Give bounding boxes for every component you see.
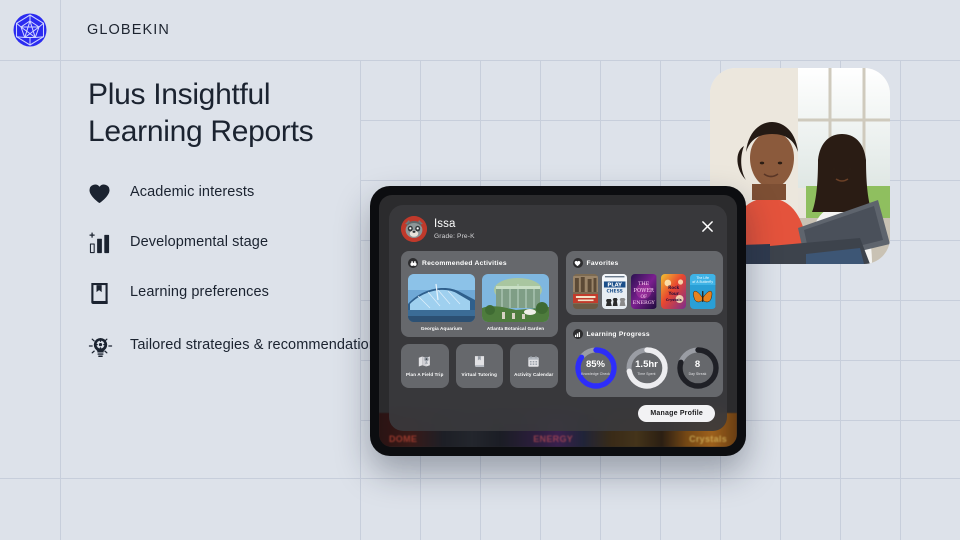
quick-action-label: Activity Calendar	[514, 372, 553, 377]
feature-item-developmental-stage: Developmental stage	[88, 218, 388, 268]
close-icon[interactable]	[699, 218, 715, 234]
svg-text:ENERGY: ENERGY	[633, 300, 656, 306]
ring-text: 85% Knowledge Check	[573, 345, 619, 391]
brand-name: GLOBEKIN	[87, 22, 170, 38]
progress-ring-day-streak: 8 Day Streak	[675, 345, 721, 391]
favorites-card: Favorites	[566, 251, 723, 315]
feature-label: Academic interests	[130, 183, 254, 202]
learning-progress-card: Learning Progress 85%	[566, 322, 723, 397]
svg-text:Rock: Rock	[668, 285, 679, 290]
ring-value: 85%	[586, 360, 605, 370]
svg-text:Crystals: Crystals	[665, 298, 681, 302]
bg-word-2: ENERGY	[533, 434, 573, 444]
favorite-tile[interactable]: The Life of A Butterfly	[690, 274, 715, 309]
favorite-tile[interactable]: Rock Your Crystals	[661, 274, 686, 309]
profile-overlay-panel: Issa Grade: Pre-K	[389, 205, 727, 431]
favorite-tile[interactable]: PLAY CHESS	[602, 274, 627, 309]
svg-text:POWER: POWER	[634, 288, 654, 294]
svg-text:Your: Your	[667, 291, 679, 296]
feature-label: Developmental stage	[130, 233, 268, 252]
svg-text:CHESS: CHESS	[606, 289, 622, 295]
quick-actions-row: Plan A Field Trip Virtual Tutoring	[401, 344, 558, 388]
panel-footer: Manage Profile	[401, 405, 715, 422]
ring-label: Day Streak	[689, 372, 707, 376]
headline-line-2: Learning Reports	[88, 113, 418, 150]
quick-action-virtual-tutoring[interactable]: Virtual Tutoring	[456, 344, 504, 388]
panel-body: Recommended Activities	[401, 251, 715, 397]
feature-item-academic-interests: Academic interests	[88, 168, 388, 218]
bg-word-1: DOME	[389, 434, 417, 444]
activity-thumbnail	[408, 274, 475, 322]
feature-item-learning-preferences: Learning preferences	[88, 268, 388, 318]
top-bar: GLOBEKIN	[0, 0, 960, 60]
profile-info: Issa Grade: Pre-K	[434, 218, 475, 240]
feature-item-tailored-strategies: Tailored strategies & recommendations	[88, 318, 388, 374]
ring-value: 8	[695, 360, 700, 370]
slide-canvas: GLOBEKIN Plus Insightful Learning Report…	[0, 0, 960, 540]
map-pin-icon	[418, 355, 431, 368]
svg-text:of A Butterfly: of A Butterfly	[692, 280, 713, 284]
background-app-labels: DOME ENERGY Crystals	[379, 434, 737, 444]
activity-thumbnail	[482, 274, 549, 322]
card-title-text: Learning Progress	[587, 331, 650, 338]
card-title: Favorites	[573, 258, 716, 268]
left-column: Recommended Activities	[401, 251, 558, 397]
activity-caption: Georgia Aquarium	[408, 326, 475, 331]
headline-line-1: Plus Insightful	[88, 76, 418, 113]
feature-label: Tailored strategies & recommendations	[130, 336, 384, 355]
progress-ring-knowledge-check: 85% Knowledge Check	[573, 345, 619, 391]
page-title: Plus Insightful Learning Reports	[88, 76, 418, 150]
card-title: Recommended Activities	[408, 258, 551, 268]
card-title: Learning Progress	[573, 329, 716, 339]
card-title-text: Recommended Activities	[422, 260, 507, 267]
manage-profile-button[interactable]: Manage Profile	[638, 405, 715, 422]
calendar-icon	[527, 355, 540, 368]
raccoon-avatar-icon	[401, 216, 427, 242]
right-column: Favorites	[566, 251, 723, 397]
activity-row: Georgia Aquarium	[408, 274, 551, 331]
svg-text:THE: THE	[638, 281, 649, 287]
tablet-device: DOME ENERGY Crystals	[370, 186, 746, 456]
activity-caption: Atlanta Botanical Garden	[482, 326, 549, 331]
panel-header: Issa Grade: Pre-K	[401, 216, 715, 242]
feature-label: Learning preferences	[130, 283, 269, 302]
ring-text: 8 Day Streak	[675, 345, 721, 391]
favorites-row: PLAY CHESS	[573, 274, 716, 309]
recommended-activities-card: Recommended Activities	[401, 251, 558, 337]
quick-action-label: Virtual Tutoring	[462, 372, 497, 377]
lightbulb-gear-icon	[88, 334, 130, 359]
favorite-tile[interactable]	[573, 274, 598, 309]
heart-icon	[88, 183, 130, 204]
binoculars-icon	[408, 258, 418, 268]
ring-value: 1.5hr	[635, 360, 658, 370]
activity-card-botanical-garden[interactable]: Atlanta Botanical Garden	[482, 274, 549, 331]
logo-container[interactable]	[0, 0, 60, 60]
bg-word-3: Crystals	[689, 434, 727, 444]
quick-action-label: Plan A Field Trip	[406, 372, 443, 377]
progress-ring-time-spent: 1.5hr Time Spent	[624, 345, 670, 391]
bar-chart-plus-icon	[88, 232, 130, 255]
chart-badge-icon	[573, 329, 583, 339]
progress-rings: 85% Knowledge Check	[573, 345, 716, 391]
avatar[interactable]	[401, 216, 427, 242]
icosahedron-logo-icon	[12, 12, 48, 48]
book-icon	[473, 355, 486, 368]
tablet-screen: DOME ENERGY Crystals	[379, 195, 737, 447]
svg-text:PLAY: PLAY	[607, 282, 622, 288]
ring-text: 1.5hr Time Spent	[624, 345, 670, 391]
feature-list: Academic interests Developmental stage	[88, 168, 388, 374]
quick-action-activity-calendar[interactable]: Activity Calendar	[510, 344, 558, 388]
book-bookmark-icon	[88, 282, 130, 305]
profile-grade: Grade: Pre-K	[434, 233, 475, 240]
ring-label: Knowledge Check	[581, 372, 610, 376]
ring-label: Time Spent	[637, 372, 655, 376]
activity-card-aquarium[interactable]: Georgia Aquarium	[408, 274, 475, 331]
card-title-text: Favorites	[587, 260, 619, 267]
heart-badge-icon	[573, 258, 583, 268]
profile-name: Issa	[434, 218, 475, 231]
favorite-tile[interactable]: THE POWER OF ENERGY	[631, 274, 656, 309]
quick-action-plan-field-trip[interactable]: Plan A Field Trip	[401, 344, 449, 388]
